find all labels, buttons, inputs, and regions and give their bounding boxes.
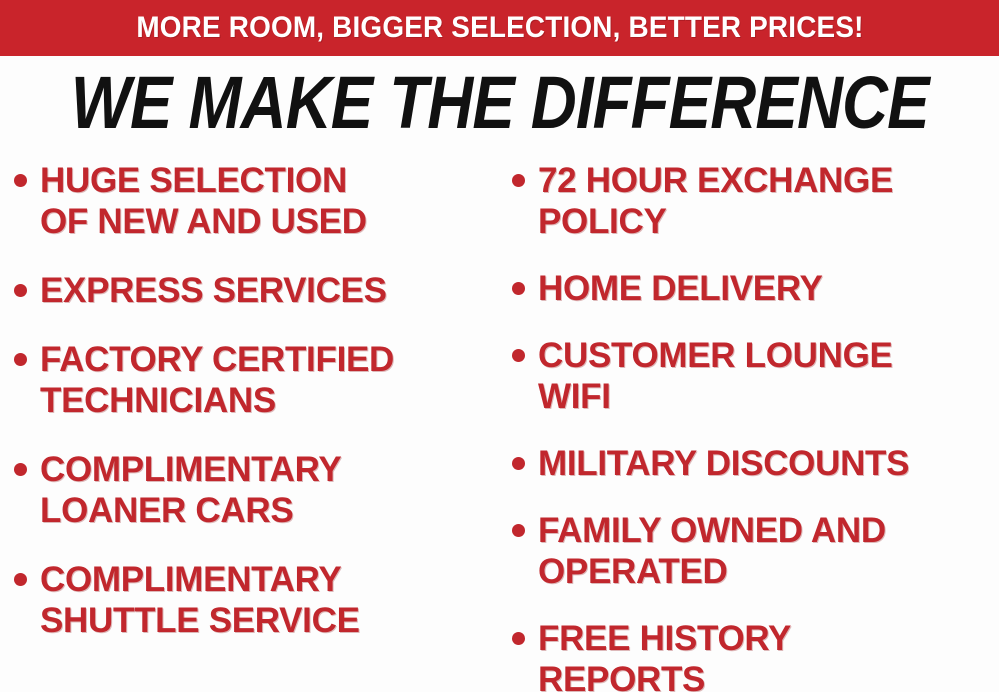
headline-text: WE MAKE THE DIFFERENCE <box>71 66 929 140</box>
list-item: HUGE SELECTION OF NEW AND USED <box>14 160 500 242</box>
list-item-label: COMPLIMENTARY LOANER CARS <box>40 449 341 531</box>
feature-columns: HUGE SELECTION OF NEW AND USED EXPRESS S… <box>0 160 999 680</box>
feature-column-right: 72 HOUR EXCHANGE POLICY HOME DELIVERY CU… <box>512 160 999 692</box>
bullet-dot-icon <box>512 174 525 187</box>
promo-banner-text: MORE ROOM, BIGGER SELECTION, BETTER PRIC… <box>136 13 863 43</box>
list-item-label: HUGE SELECTION OF NEW AND USED <box>40 160 367 242</box>
promo-banner: MORE ROOM, BIGGER SELECTION, BETTER PRIC… <box>0 0 999 56</box>
list-item: MILITARY DISCOUNTS <box>512 443 999 484</box>
bullet-dot-icon <box>14 463 27 476</box>
bullet-dot-icon <box>14 284 27 297</box>
bullet-dot-icon <box>14 353 27 366</box>
list-item: HOME DELIVERY <box>512 268 999 309</box>
bullet-dot-icon <box>512 282 525 295</box>
bullet-dot-icon <box>14 573 27 586</box>
list-item: COMPLIMENTARY SHUTTLE SERVICE <box>14 559 500 641</box>
list-item-label: COMPLIMENTARY SHUTTLE SERVICE <box>40 559 360 641</box>
list-item: 72 HOUR EXCHANGE POLICY <box>512 160 999 242</box>
list-item-label: HOME DELIVERY <box>538 268 823 309</box>
list-item: EXPRESS SERVICES <box>14 270 500 311</box>
list-item-label: MILITARY DISCOUNTS <box>538 443 909 484</box>
list-item-label: FAMILY OWNED AND OPERATED <box>538 510 886 592</box>
headline: WE MAKE THE DIFFERENCE <box>0 66 999 140</box>
list-item-label: CUSTOMER LOUNGE WIFI <box>538 335 893 417</box>
list-item: FACTORY CERTIFIED TECHNICIANS <box>14 339 500 421</box>
feature-column-left: HUGE SELECTION OF NEW AND USED EXPRESS S… <box>14 160 500 669</box>
list-item: FAMILY OWNED AND OPERATED <box>512 510 999 592</box>
list-item-label: 72 HOUR EXCHANGE POLICY <box>538 160 893 242</box>
list-item-label: FACTORY CERTIFIED TECHNICIANS <box>40 339 394 421</box>
list-item: CUSTOMER LOUNGE WIFI <box>512 335 999 417</box>
bullet-dot-icon <box>512 349 525 362</box>
list-item: COMPLIMENTARY LOANER CARS <box>14 449 500 531</box>
bullet-dot-icon <box>512 457 525 470</box>
bullet-dot-icon <box>512 524 525 537</box>
list-item: FREE HISTORY REPORTS <box>512 618 999 692</box>
list-item-label: EXPRESS SERVICES <box>40 270 387 311</box>
advertisement-banner: MORE ROOM, BIGGER SELECTION, BETTER PRIC… <box>0 0 999 692</box>
bullet-dot-icon <box>14 174 27 187</box>
bullet-dot-icon <box>512 632 525 645</box>
list-item-label: FREE HISTORY REPORTS <box>538 618 791 692</box>
